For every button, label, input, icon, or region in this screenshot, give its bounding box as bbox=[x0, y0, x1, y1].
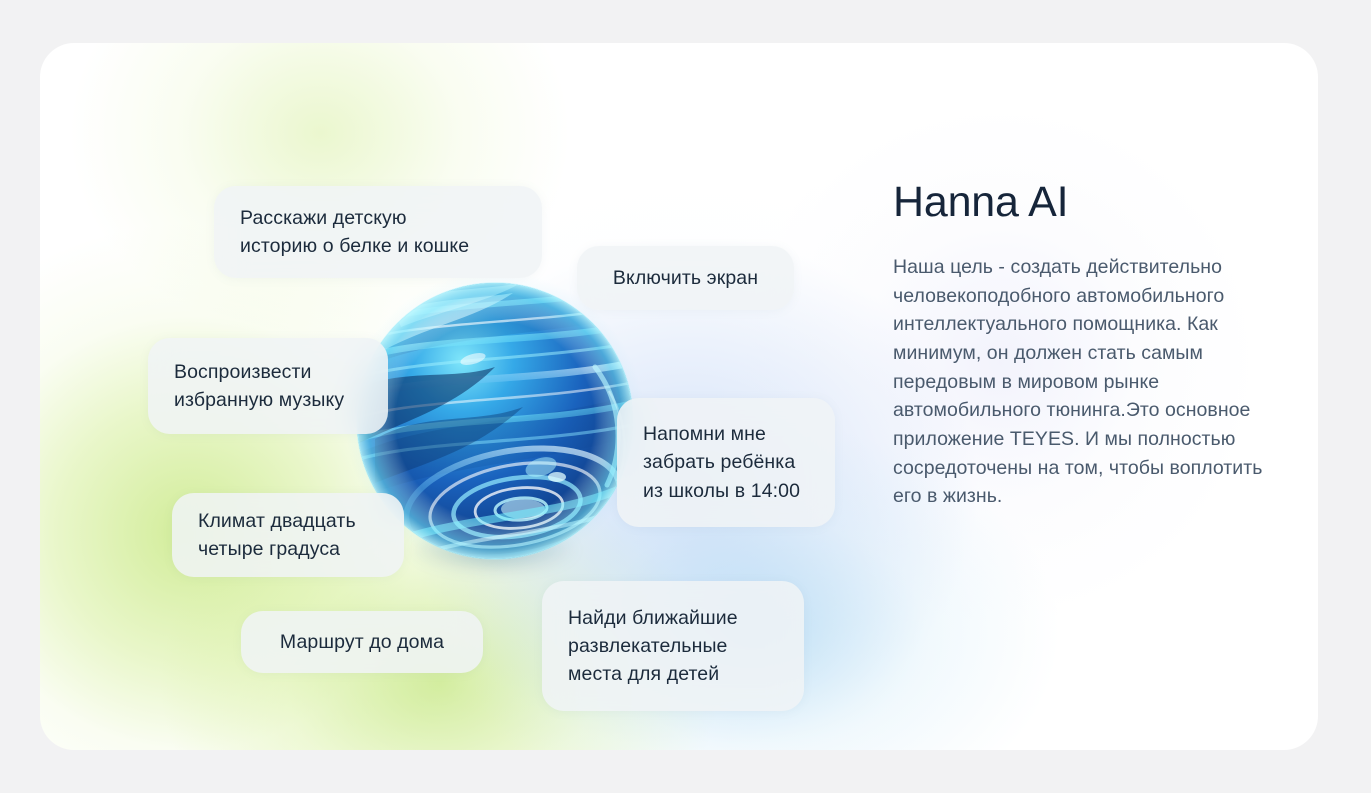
suggestion-bubble-reminder[interactable]: Напомни мне забрать ребёнка из школы в 1… bbox=[617, 398, 835, 527]
product-description: Наша цель - создать действительно челове… bbox=[893, 253, 1293, 511]
info-column: Hanna AI Наша цель - создать действитель… bbox=[893, 178, 1293, 511]
suggestion-bubble-music[interactable]: Воспроизвести избранную музыку bbox=[148, 338, 388, 434]
suggestion-bubble-places[interactable]: Найди ближайшие развлекательные места дл… bbox=[542, 581, 804, 711]
hero-card: Расскажи детскую историю о белке и кошке… bbox=[40, 43, 1318, 750]
suggestion-bubble-route[interactable]: Маршрут до дома bbox=[241, 611, 483, 673]
suggestion-bubble-climate[interactable]: Климат двадцать четыре градуса bbox=[172, 493, 404, 577]
product-title: Hanna AI bbox=[893, 178, 1293, 227]
suggestion-bubble-screen[interactable]: Включить экран bbox=[577, 246, 794, 310]
suggestion-bubble-story[interactable]: Расскажи детскую историю о белке и кошке bbox=[214, 186, 542, 278]
